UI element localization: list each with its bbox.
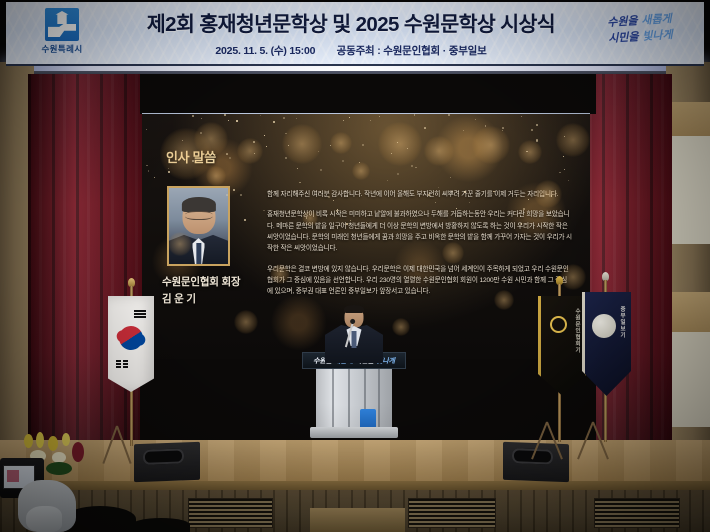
sparkle bbox=[391, 153, 392, 154]
sparkle bbox=[359, 162, 360, 163]
bokeh-light bbox=[472, 126, 510, 164]
presenter-figure bbox=[324, 306, 384, 362]
wall-panel-light-lower bbox=[666, 332, 710, 427]
event-date: 2025. 11. 5. (수) 15:00 bbox=[215, 45, 315, 57]
stage-vent bbox=[188, 498, 273, 528]
bokeh-light bbox=[424, 136, 454, 166]
sparkle bbox=[438, 187, 439, 188]
banner-text-block: 제2회 홍재청년문학상 및 2025 수원문학상 시상식 2025. 11. 5… bbox=[116, 7, 586, 58]
wall-panel-light-upper bbox=[666, 136, 710, 244]
bokeh-light bbox=[206, 166, 226, 186]
bokeh-light bbox=[378, 122, 422, 166]
sparkle bbox=[333, 200, 334, 201]
suwon-city-tower-logo-icon bbox=[45, 8, 79, 41]
organization-flag-navy: 중부일보기 bbox=[578, 272, 638, 454]
sparkle bbox=[450, 177, 451, 178]
sparkle bbox=[192, 160, 194, 162]
slide-body-text: 함께 자리해주신 여러분 감사합니다. 작년에 이어 올해도 부지런히 씨뿌려 … bbox=[267, 189, 572, 298]
sparkle bbox=[397, 142, 398, 143]
sparkle bbox=[320, 169, 322, 171]
org-flag-cloth: 중부일보기 bbox=[582, 292, 631, 396]
slide-heading: 인사 말씀 bbox=[166, 147, 216, 166]
sparkle bbox=[350, 220, 351, 221]
bokeh-light bbox=[556, 123, 590, 157]
sparkle bbox=[226, 194, 228, 196]
speaker-credit: 수원문인협회 회장 김 운 기 bbox=[162, 274, 282, 309]
sparkle bbox=[224, 114, 226, 116]
bokeh-light bbox=[330, 132, 352, 154]
sparkle bbox=[464, 191, 466, 193]
screen-mask-top bbox=[140, 74, 596, 114]
wave-glyph bbox=[48, 24, 76, 37]
sparkle bbox=[397, 173, 399, 175]
stage-vent bbox=[408, 498, 496, 528]
audience-head bbox=[132, 518, 190, 532]
stage-vent bbox=[594, 498, 680, 528]
sparkle bbox=[273, 121, 275, 123]
sparkle bbox=[502, 130, 503, 131]
sparkle bbox=[362, 144, 364, 146]
sparkle bbox=[448, 114, 450, 116]
sparkle bbox=[424, 127, 426, 129]
korean-national-flag bbox=[98, 278, 168, 454]
podium-base bbox=[310, 427, 398, 438]
wall-right bbox=[666, 62, 710, 462]
sparkle bbox=[297, 168, 298, 169]
sparkle bbox=[146, 129, 147, 130]
sparkle bbox=[475, 119, 476, 120]
presenter-hair bbox=[344, 305, 364, 313]
sparkle bbox=[435, 202, 436, 203]
glasses-icon bbox=[184, 211, 212, 221]
sparkle bbox=[182, 140, 183, 141]
city-logo-caption: 수원특례시 bbox=[41, 43, 82, 55]
sparkle bbox=[343, 120, 344, 121]
sparkle bbox=[493, 191, 495, 193]
sparkle bbox=[236, 120, 237, 121]
sparkle bbox=[502, 127, 504, 129]
sparkle bbox=[563, 156, 564, 157]
trigram-geon bbox=[134, 310, 146, 319]
trigram-gon bbox=[116, 360, 128, 369]
speaker-portrait bbox=[167, 186, 230, 266]
sparkle bbox=[342, 160, 344, 162]
tower-glyph bbox=[56, 11, 69, 24]
podium-body bbox=[316, 369, 392, 427]
sparkle bbox=[254, 153, 255, 154]
sparkle bbox=[521, 116, 522, 117]
bokeh-light bbox=[237, 138, 263, 164]
bokeh-light bbox=[234, 310, 258, 334]
sparkle bbox=[564, 136, 565, 137]
bokeh-light bbox=[282, 124, 322, 164]
sparkle bbox=[146, 165, 147, 166]
podium: 수원을 새롭게 시민을 빛나게 bbox=[302, 352, 406, 444]
sparkle bbox=[349, 117, 350, 118]
audience-hand bbox=[18, 480, 76, 532]
sparkle bbox=[531, 129, 533, 131]
presenter-tie bbox=[352, 331, 357, 348]
org-emblem-icon bbox=[592, 314, 616, 338]
sparkle bbox=[536, 139, 538, 141]
sparkle bbox=[264, 135, 265, 136]
sparkle bbox=[240, 194, 242, 196]
org-flag-label: 중부일보기 bbox=[618, 306, 626, 380]
sparkle bbox=[379, 116, 380, 117]
led-banner: 수원특례시 제2회 홍재청년문학상 및 2025 수원문학상 시상식 2025.… bbox=[6, 2, 704, 66]
bokeh-light bbox=[352, 162, 370, 180]
sparkle bbox=[253, 141, 255, 143]
sparkle bbox=[228, 120, 229, 121]
sparkle bbox=[263, 210, 265, 212]
event-title: 제2회 홍재청년문학상 및 2025 수원문학상 시상식 bbox=[116, 7, 586, 37]
sparkle bbox=[328, 196, 330, 198]
sparkle bbox=[148, 170, 150, 172]
sparkle bbox=[469, 202, 470, 203]
taegukgi-cloth bbox=[108, 296, 154, 392]
wall-panel-wood-lower bbox=[666, 292, 710, 332]
sparkle bbox=[346, 223, 347, 224]
sparkle bbox=[299, 182, 301, 184]
sparkle bbox=[200, 132, 202, 134]
sparkle bbox=[260, 115, 261, 116]
sparkle bbox=[233, 189, 235, 191]
portrait-tie bbox=[196, 243, 201, 264]
slide-paragraph-3: 우리문학은 결코 변방에 있지 않습니다. 우리문학은 이제 대한민국을 넘어 … bbox=[267, 264, 572, 298]
sparkle bbox=[201, 118, 202, 119]
sparkle bbox=[463, 130, 464, 131]
slide-paragraph-1: 함께 자리해주신 여러분 감사합니다. 작년에 이어 올해도 부지런히 씨뿌려 … bbox=[267, 189, 572, 200]
sparkle bbox=[266, 146, 267, 147]
sparkle bbox=[485, 125, 486, 126]
city-logo: 수원특례시 bbox=[26, 8, 98, 58]
sparkle bbox=[366, 222, 367, 223]
portrait-hair bbox=[181, 197, 215, 211]
sparkle bbox=[414, 114, 416, 116]
sparkle bbox=[559, 172, 561, 174]
stage-step bbox=[310, 508, 405, 532]
speaker-name: 김 운 기 bbox=[162, 291, 282, 308]
sparkle bbox=[229, 157, 231, 159]
bokeh-light bbox=[392, 318, 410, 336]
wall-panel-wood-upper bbox=[666, 102, 710, 136]
sparkle bbox=[428, 194, 430, 196]
event-subline: 2025. 11. 5. (수) 15:00 공동주최 : 수원문인협회 · 중… bbox=[116, 43, 586, 58]
sparkle bbox=[296, 118, 297, 119]
sparkle bbox=[168, 168, 169, 169]
sparkle bbox=[288, 145, 289, 146]
speaker-org: 수원문인협회 회장 bbox=[162, 274, 282, 291]
sparkle bbox=[285, 157, 287, 159]
sparkle bbox=[370, 120, 371, 121]
sparkle bbox=[154, 177, 155, 178]
sparkle bbox=[283, 117, 285, 119]
bokeh-light bbox=[518, 140, 542, 164]
sparkle bbox=[568, 180, 569, 181]
sparkle bbox=[407, 148, 409, 150]
stage-edge bbox=[0, 481, 710, 490]
sparkle bbox=[318, 151, 319, 152]
city-slogan: 수원을 새롭게 시민을 빛나게 bbox=[587, 10, 693, 48]
sparkle bbox=[411, 165, 413, 167]
sparkle bbox=[285, 133, 286, 134]
sparkle bbox=[387, 180, 388, 181]
sparkle bbox=[168, 171, 170, 173]
slide-paragraph-2: 홍재청년문학상이 비록 시작은 미미하고 낱알에 불과하였으나 두해를 거듭하는… bbox=[267, 209, 572, 254]
org-emblem-icon bbox=[550, 316, 567, 333]
sparkle bbox=[415, 167, 417, 169]
sparkle bbox=[244, 219, 246, 221]
event-photo-scene: 수원특례시 제2회 홍재청년문학상 및 2025 수원문학상 시상식 2025.… bbox=[0, 0, 710, 532]
event-host: 공동주최 : 수원문인협회 · 중부일보 bbox=[337, 45, 487, 57]
sparkle bbox=[536, 124, 538, 126]
taeguk-symbol-icon bbox=[114, 322, 147, 355]
sparkle bbox=[564, 169, 565, 170]
sparkle bbox=[523, 208, 525, 210]
sparkle bbox=[226, 153, 228, 155]
sparkle bbox=[526, 151, 527, 152]
sparkle bbox=[330, 145, 331, 146]
sparkle bbox=[306, 217, 307, 218]
sparkle bbox=[192, 115, 194, 117]
